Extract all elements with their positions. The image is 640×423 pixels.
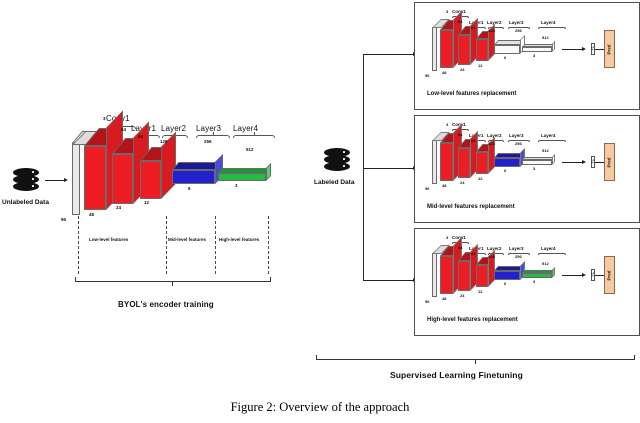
variant-high-network: Conv1 Layer1 Layer2 Layer3 Layer4 96 3 4… xyxy=(414,228,640,336)
v2-pred-label: Pred xyxy=(607,151,612,175)
v3-channel-3: 3 xyxy=(446,235,448,240)
channel-label-64b: 64 xyxy=(138,134,143,139)
v3-conv1-block xyxy=(440,256,453,294)
v1-channel-512: 512 xyxy=(542,35,549,40)
v2-conv1-block xyxy=(440,143,453,181)
figure-canvas: Unlabeled Data Conv1 Layer1 Layer2 Layer… xyxy=(0,0,640,423)
v3-group-label-layer4: Layer4 xyxy=(541,246,556,251)
byol-stage-brace xyxy=(75,277,271,282)
channel-label-64a: 64 xyxy=(121,127,126,132)
fanout-arrow-3-line xyxy=(363,280,415,281)
layer4-block xyxy=(218,173,266,181)
labeled-data-icon xyxy=(324,148,350,174)
v2-channel-64a: 64 xyxy=(458,132,462,137)
v1-input-plate xyxy=(432,27,437,71)
v3-spatial-6: 6 xyxy=(504,281,506,286)
fanout-arrow-2-line xyxy=(363,168,415,169)
v1-spatial-24: 24 xyxy=(460,67,464,72)
v1-title: Low-level features replacement xyxy=(427,91,516,97)
channel-label-3: 3 xyxy=(103,116,106,121)
conv1-block xyxy=(84,146,106,210)
v1-channel-256: 256 xyxy=(515,28,522,33)
v2-channel-3: 3 xyxy=(446,122,448,127)
v3-pred-label: Pred xyxy=(607,264,612,288)
v3-channel-64a: 64 xyxy=(458,245,462,250)
group-label-layer4: Layer4 xyxy=(233,124,258,133)
v2-spatial-6: 6 xyxy=(504,168,506,173)
v3-channel-512: 512 xyxy=(542,261,549,266)
unlabeled-data-label: Unlabeled Data xyxy=(2,199,49,206)
spatial-label-24: 24 xyxy=(116,205,121,210)
variant-mid-network: Conv1 Layer1 Layer2 Layer3 Layer4 96 3 4… xyxy=(414,115,640,223)
v2-layer2-block xyxy=(476,152,488,174)
byol-stage-label: BYOL's encoder training xyxy=(118,300,214,309)
v3-spatial-96: 96 xyxy=(425,299,429,304)
channel-label-256: 256 xyxy=(204,139,212,144)
v3-title: High-level features replacement xyxy=(427,317,518,323)
fanout-arrow-1-line xyxy=(363,54,415,55)
v1-spatial-48: 48 xyxy=(442,70,446,75)
v1-fc-label: FC xyxy=(591,40,595,56)
variant-low-network: Conv1 Layer1 Layer2 Layer3 Layer4 96 3 xyxy=(414,2,640,110)
v2-layer4-block xyxy=(522,160,552,165)
group-label-layer3: Layer3 xyxy=(196,124,221,133)
supervised-finetune-panel: Labeled Data Conv1 Layer1 Layer2 Layer3 … xyxy=(306,0,640,395)
divider-low-start xyxy=(78,216,79,274)
layer2-block xyxy=(140,161,161,199)
v2-channel-128: 128 xyxy=(488,141,495,146)
v2-spatial-24: 24 xyxy=(460,180,464,185)
v1-pred-label: Pred xyxy=(607,38,612,62)
v1-channel-128: 128 xyxy=(488,28,495,33)
figure-caption: Figure 2: Overview of the approach xyxy=(0,400,640,415)
v1-channel-64a: 64 xyxy=(458,19,462,24)
labeled-data-label: Labeled Data xyxy=(314,179,354,186)
layer3-block xyxy=(172,170,215,184)
v3-head-arrow-line xyxy=(562,275,584,276)
v2-layer1-block xyxy=(458,148,470,178)
v3-spatial-3: 3 xyxy=(533,279,535,284)
v3-layer4-block xyxy=(522,273,552,278)
v2-fc-arrow xyxy=(595,162,604,163)
channel-label-128: 128 xyxy=(160,139,168,144)
v2-input-plate xyxy=(432,140,437,184)
v2-fc-label: FC xyxy=(591,153,595,169)
v1-group-label-layer3: Layer3 xyxy=(509,20,524,25)
feature-label-mid: Mid-level features xyxy=(168,237,206,242)
v2-spatial-3: 3 xyxy=(533,166,535,171)
brace-layer3 xyxy=(196,135,230,138)
v2-title: Mid-level features replacement xyxy=(427,204,515,210)
divider-mid-high xyxy=(215,216,216,274)
v1-spatial-3: 3 xyxy=(533,53,535,58)
feature-label-high: High-level features xyxy=(219,237,267,243)
v3-channel-64b: 64 xyxy=(471,251,475,256)
v2-channel-256: 256 xyxy=(515,141,522,146)
byol-encoder-panel: Unlabeled Data Conv1 Layer1 Layer2 Layer… xyxy=(0,0,306,330)
v1-layer1-block xyxy=(458,35,470,65)
v1-layer4-block xyxy=(522,47,552,52)
v2-group-label-layer4: Layer4 xyxy=(541,133,556,138)
divider-low-mid xyxy=(166,216,167,274)
spatial-label-96: 96 xyxy=(61,217,66,222)
spatial-label-6: 6 xyxy=(188,186,191,191)
feature-label-low: Low-level features xyxy=(89,237,128,242)
v3-spatial-24: 24 xyxy=(460,293,464,298)
v1-fc-arrow xyxy=(595,49,604,50)
v1-layer3-block xyxy=(494,45,520,54)
channel-label-512: 512 xyxy=(246,147,254,152)
v3-channel-128: 128 xyxy=(488,254,495,259)
v1-spatial-12: 12 xyxy=(478,63,482,68)
v3-group-label-layer3: Layer3 xyxy=(509,246,524,251)
v1-layer2-block xyxy=(476,39,488,61)
v3-layer3-block xyxy=(494,271,520,280)
v2-channel-64b: 64 xyxy=(471,138,475,143)
v3-layer1-block xyxy=(458,261,470,291)
group-label-layer2: Layer2 xyxy=(161,124,186,133)
input-plate-block xyxy=(72,143,80,215)
v3-fc-arrow xyxy=(595,275,604,276)
v1-conv1-block xyxy=(440,30,453,68)
v2-group-label-layer3: Layer3 xyxy=(509,133,524,138)
v3-spatial-48: 48 xyxy=(442,296,446,301)
v1-channel-64b: 64 xyxy=(471,25,475,30)
v1-head-arrow-head xyxy=(582,47,586,51)
spatial-label-12: 12 xyxy=(144,200,149,205)
spatial-label-3: 3 xyxy=(235,183,238,188)
v3-spatial-12: 12 xyxy=(478,289,482,294)
v1-group-label-layer4: Layer4 xyxy=(541,20,556,25)
v1-brace-layer4 xyxy=(538,27,566,29)
v3-brace-layer4 xyxy=(538,253,566,255)
v2-head-arrow-head xyxy=(582,160,586,164)
v1-spatial-96: 96 xyxy=(425,73,429,78)
input-arrow-head xyxy=(64,178,68,182)
v1-spatial-6: 6 xyxy=(504,55,506,60)
v2-head-arrow-line xyxy=(562,162,584,163)
divider-high-end xyxy=(268,216,269,274)
fanout-trunk xyxy=(363,54,364,280)
v2-spatial-12: 12 xyxy=(478,176,482,181)
unlabeled-data-icon xyxy=(13,168,39,194)
v3-head-arrow-head xyxy=(582,273,586,277)
v2-spatial-96: 96 xyxy=(425,186,429,191)
brace-layer4 xyxy=(233,135,275,138)
v2-layer3-block xyxy=(494,158,520,167)
v2-spatial-48: 48 xyxy=(442,183,446,188)
v2-brace-layer4 xyxy=(538,140,566,142)
v3-channel-256: 256 xyxy=(515,254,522,259)
v3-fc-label: FC xyxy=(591,266,595,282)
layer1-block xyxy=(112,154,133,204)
supervised-stage-label: Supervised Learning Finetuning xyxy=(390,370,523,380)
input-arrow-line xyxy=(45,180,65,181)
v2-channel-512: 512 xyxy=(542,148,549,153)
v3-input-plate xyxy=(432,253,437,297)
v1-head-arrow-line xyxy=(562,49,584,50)
v3-layer2-block xyxy=(476,265,488,287)
spatial-label-48: 48 xyxy=(89,212,94,217)
byol-stage-brace-tick xyxy=(172,282,173,286)
v1-channel-3: 3 xyxy=(446,9,448,14)
supervised-stage-brace-tick xyxy=(475,360,476,364)
